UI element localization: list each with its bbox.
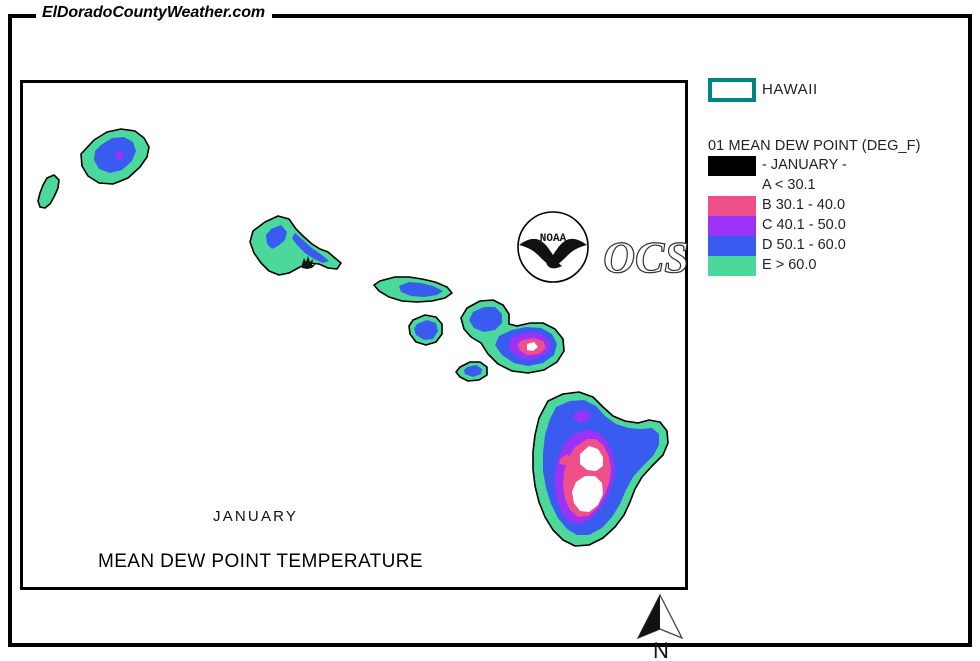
north-arrow-label: N (653, 638, 669, 660)
legend-label: A < 30.1 (762, 177, 816, 193)
legend-swatch (708, 156, 756, 176)
frame-bottom-edge (8, 643, 972, 647)
legend-label: B 30.1 - 40.0 (762, 197, 845, 213)
map-legend: HAWAII 01 MEAN DEW POINT (DEG_F) - JANUA… (708, 78, 958, 276)
map-caption-month: JANUARY (213, 508, 298, 525)
island-kauai (81, 129, 149, 184)
legend-swatch (708, 196, 756, 216)
legend-heading: 01 MEAN DEW POINT (DEG_F) (708, 138, 958, 154)
legend-label: - JANUARY - (762, 157, 847, 173)
map-panel: .isl{stroke:#000;stroke-width:1.6;stroke… (20, 80, 688, 590)
noaa-logo-text: NOAA (540, 233, 567, 245)
legend-row: - JANUARY - (708, 156, 958, 176)
legend-region-label: HAWAII (762, 81, 818, 98)
legend-label: E > 60.0 (762, 257, 816, 273)
legend-class-rows: - JANUARY - A < 30.1 B 30.1 - 40.0 C 40.… (708, 156, 958, 276)
legend-region-swatch (708, 78, 756, 102)
weather-map-page: ElDoradoCountyWeather.com .isl{stroke:#0… (0, 0, 980, 661)
legend-swatch (708, 236, 756, 256)
ocs-logo-icon: OCS (601, 228, 691, 288)
island-niihau (38, 175, 59, 208)
frame-left-edge (8, 14, 12, 647)
island-molokai (374, 277, 452, 302)
island-kahoolawe (456, 362, 487, 381)
site-title: ElDoradoCountyWeather.com (36, 4, 271, 22)
island-lanai (409, 315, 442, 345)
legend-label: C 40.1 - 50.0 (762, 217, 846, 233)
frame-right-edge (968, 14, 972, 647)
legend-row: C 40.1 - 50.0 (708, 216, 958, 236)
hawaii-islands-map: .isl{stroke:#000;stroke-width:1.6;stroke… (23, 83, 685, 587)
legend-row: D 50.1 - 60.0 (708, 236, 958, 256)
legend-swatch (708, 256, 756, 276)
legend-row: E > 60.0 (708, 256, 958, 276)
ocs-logo-text: OCS (603, 233, 689, 282)
frame-top-right-segment (272, 14, 972, 18)
north-arrow-icon: N (632, 592, 692, 660)
legend-row: A < 30.1 (708, 176, 958, 196)
legend-region-entry: HAWAII (708, 78, 958, 108)
island-oahu (250, 216, 341, 275)
legend-row: B 30.1 - 40.0 (708, 196, 958, 216)
map-caption-title: MEAN DEW POINT TEMPERATURE (98, 551, 423, 573)
legend-swatch (708, 216, 756, 236)
island-hawaii-big-island (533, 392, 668, 546)
legend-label: D 50.1 - 60.0 (762, 237, 846, 253)
noaa-logo-icon: NOAA (513, 207, 593, 287)
